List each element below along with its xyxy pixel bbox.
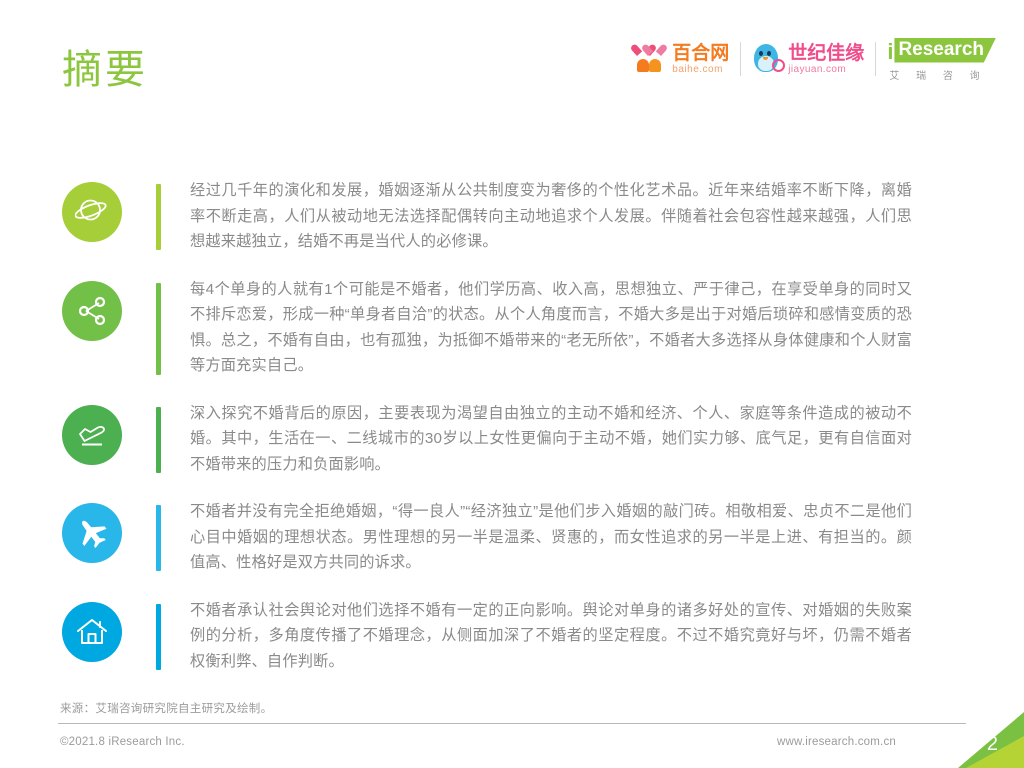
icon-column (28, 178, 156, 242)
logo-iresearch-top: i Research (887, 37, 996, 63)
logo-baihe-name-en: baihe.com (672, 65, 729, 75)
logo-iresearch[interactable]: i Research 艾 瑞 咨 询 (887, 37, 996, 82)
footer-url: www.iresearch.com.cn (777, 736, 896, 748)
logo-baihe-name-cn: 百合网 (672, 44, 729, 63)
blue-bird-mascot-icon (752, 43, 784, 75)
icon-badge-takeoff (62, 405, 122, 465)
paragraph-column: 经过几千年的演化和发展，婚姻逐渐从公共制度变为奢侈的个性化艺术品。近年来结婚率不… (161, 178, 1024, 255)
paragraph-column: 每4个单身的人就有1个可能是不婚者，他们学历高、收入高，思想独立、严于律己，在享… (161, 277, 1024, 379)
share-network-icon (76, 295, 108, 327)
slide-header: 摘要 百合网 baihe.com (0, 0, 1024, 130)
icon-column (28, 401, 156, 465)
logo-iresearch-name-en: Research (894, 38, 996, 63)
logo-jiayuan-name-en: jiayuan.com (788, 65, 864, 75)
logo-baihe[interactable]: 百合网 baihe.com (637, 44, 729, 75)
footer-divider (58, 723, 966, 724)
summary-item: 经过几千年的演化和发展，婚姻逐渐从公共制度变为奢侈的个性化艺术品。近年来结婚率不… (0, 178, 1024, 255)
paragraph-column: 不婚者承认社会舆论对他们选择不婚有一定的正向影响。舆论对单身的诸多好处的宣传、对… (161, 598, 1024, 675)
summary-item: 不婚者并没有完全拒绝婚姻，“得一良人”“经济独立”是他们步入婚姻的敲门砖。相敬相… (0, 499, 1024, 576)
summary-paragraph: 每4个单身的人就有1个可能是不婚者，他们学历高、收入高，思想独立、严于律己，在享… (190, 277, 912, 379)
icon-badge-share (62, 281, 122, 341)
summary-item: 深入探究不婚背后的原因，主要表现为渴望自由独立的主动不婚和经济、个人、家庭等条件… (0, 401, 1024, 478)
summary-content-list: 经过几千年的演化和发展，婚姻逐渐从公共制度变为奢侈的个性化艺术品。近年来结婚率不… (0, 178, 1024, 696)
icon-column (28, 277, 156, 341)
corner-decoration: 2 (928, 696, 1024, 768)
summary-paragraph: 深入探究不婚背后的原因，主要表现为渴望自由独立的主动不婚和经济、个人、家庭等条件… (190, 401, 912, 478)
source-note: 来源：艾瑞咨询研究院自主研究及绘制。 (60, 700, 272, 716)
logo-strip: 百合网 baihe.com 世纪佳缘 jiayuan.com i (637, 33, 996, 85)
summary-item: 不婚者承认社会舆论对他们选择不婚有一定的正向影响。舆论对单身的诸多好处的宣传、对… (0, 598, 1024, 675)
summary-item: 每4个单身的人就有1个可能是不婚者，他们学历高、收入高，思想独立、严于律己，在享… (0, 277, 1024, 379)
page-number: 2 (987, 734, 998, 754)
slide-footer: 来源：艾瑞咨询研究院自主研究及绘制。 ©2021.8 iResearch Inc… (0, 688, 1024, 768)
logo-jiayuan-text: 世纪佳缘 jiayuan.com (788, 44, 864, 75)
planet-saturn-icon (75, 195, 109, 229)
paragraph-column: 深入探究不婚背后的原因，主要表现为渴望自由独立的主动不婚和经济、个人、家庭等条件… (161, 401, 1024, 478)
copyright-text: ©2021.8 iResearch Inc. (60, 736, 185, 748)
logo-baihe-text: 百合网 baihe.com (672, 44, 729, 75)
icon-column (28, 598, 156, 662)
logo-divider (875, 42, 876, 76)
logo-jiayuan[interactable]: 世纪佳缘 jiayuan.com (752, 43, 864, 75)
logo-iresearch-mark: i (887, 41, 893, 63)
logo-divider (740, 42, 741, 76)
logo-iresearch-name-cn: 艾 瑞 咨 询 (887, 67, 986, 82)
icon-badge-house (62, 602, 122, 662)
logo-jiayuan-name-cn: 世纪佳缘 (788, 44, 864, 63)
page-title: 摘要 (62, 50, 148, 90)
summary-paragraph: 不婚者承认社会舆论对他们选择不婚有一定的正向影响。舆论对单身的诸多好处的宣传、对… (190, 598, 912, 675)
icon-column (28, 499, 156, 563)
house-home-icon (75, 615, 109, 649)
airplane-icon (75, 516, 109, 550)
icon-badge-airplane (62, 503, 122, 563)
two-hearts-couple-icon (637, 44, 667, 74)
plane-takeoff-icon (75, 418, 109, 452)
summary-paragraph: 不婚者并没有完全拒绝婚姻，“得一良人”“经济独立”是他们步入婚姻的敲门砖。相敬相… (190, 499, 912, 576)
icon-badge-planet (62, 182, 122, 242)
summary-paragraph: 经过几千年的演化和发展，婚姻逐渐从公共制度变为奢侈的个性化艺术品。近年来结婚率不… (190, 178, 912, 255)
paragraph-column: 不婚者并没有完全拒绝婚姻，“得一良人”“经济独立”是他们步入婚姻的敲门砖。相敬相… (161, 499, 1024, 576)
